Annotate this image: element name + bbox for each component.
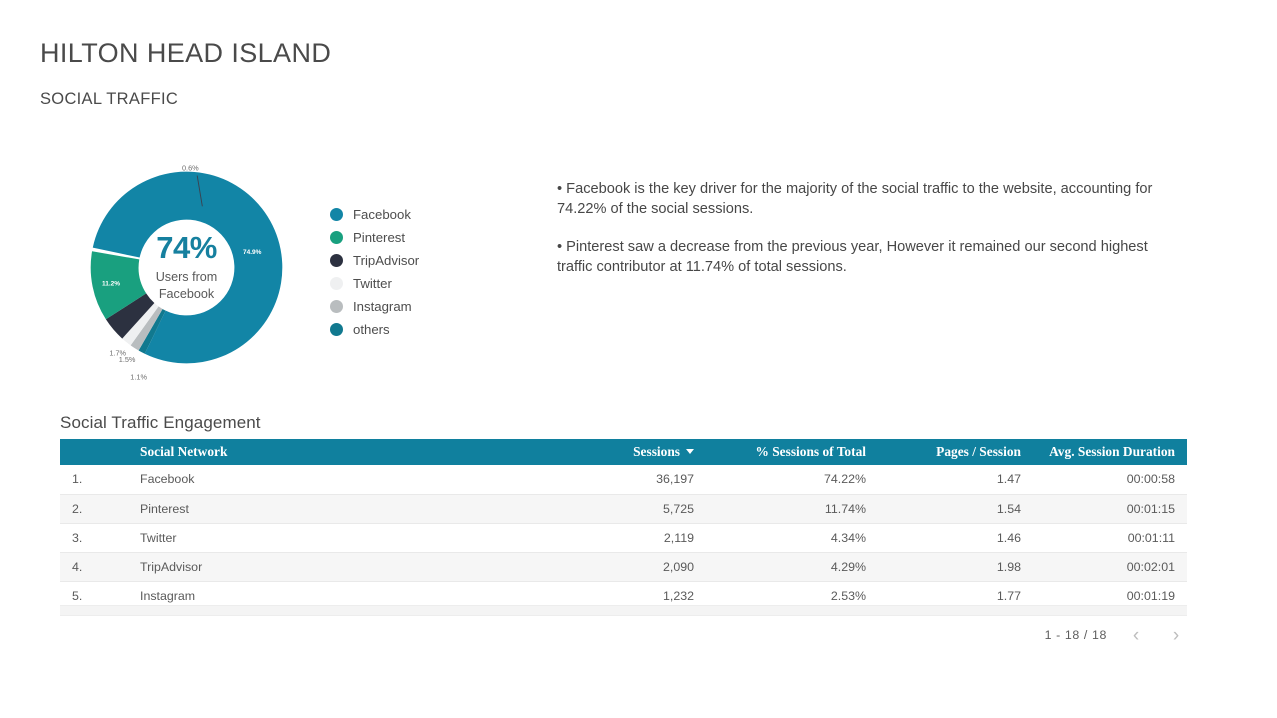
- legend-item-twitter[interactable]: Twitter: [330, 272, 490, 295]
- engagement-grid: Social Network Sessions % Sessions of To…: [60, 439, 1187, 611]
- page-range-label: 1 - 18 / 18: [1045, 628, 1107, 642]
- cell-sessions: 2,119: [528, 523, 706, 552]
- cell-pct-sessions: 11.74%: [706, 494, 878, 523]
- chevron-right-icon[interactable]: ›: [1165, 624, 1187, 646]
- table-row[interactable]: 3.Twitter2,1194.34%1.4600:01:11: [60, 523, 1187, 552]
- donut-label-callout: 0.6%: [182, 163, 199, 172]
- column-header-rank[interactable]: [60, 439, 128, 465]
- cell-rank: 3.: [60, 523, 128, 552]
- chart-legend: FacebookPinterestTripAdvisorTwitterInsta…: [330, 203, 490, 341]
- cell-pages-per-session: 1.98: [878, 552, 1033, 581]
- cell-pages-per-session: 1.54: [878, 494, 1033, 523]
- donut-label-others: 1.1%: [130, 373, 147, 380]
- legend-item-pinterest[interactable]: Pinterest: [330, 226, 490, 249]
- social-traffic-engagement-table: Social Network Sessions % Sessions of To…: [60, 439, 1187, 611]
- column-header-avg-session-duration[interactable]: Avg. Session Duration: [1033, 439, 1187, 465]
- sort-descending-icon[interactable]: [686, 449, 694, 454]
- legend-item-label: Pinterest: [353, 230, 405, 245]
- legend-item-label: Twitter: [353, 276, 392, 291]
- table-row[interactable]: 1.Facebook36,19774.22%1.4700:00:58: [60, 465, 1187, 494]
- cell-avg-session-duration: 00:01:15: [1033, 494, 1187, 523]
- cell-sessions: 2,090: [528, 552, 706, 581]
- donut-slice-group: [91, 172, 283, 364]
- chevron-left-icon[interactable]: ‹: [1125, 624, 1147, 646]
- donut-label-twitter: 1.7%: [109, 348, 126, 357]
- legend-dot-icon: [330, 208, 343, 221]
- table-header-row: Social Network Sessions % Sessions of To…: [60, 439, 1187, 465]
- table-head: Social Network Sessions % Sessions of To…: [60, 439, 1187, 465]
- cell-network: Twitter: [128, 523, 528, 552]
- donut-label-pinterest: 11.2%: [102, 280, 120, 287]
- cell-pages-per-session: 1.46: [878, 523, 1033, 552]
- cell-avg-session-duration: 00:00:58: [1033, 465, 1187, 494]
- legend-item-label: Facebook: [353, 207, 411, 222]
- insight-bullet-1: • Facebook is the key driver for the maj…: [557, 180, 1157, 219]
- donut-label-tripadvisor: 4%: [98, 336, 108, 343]
- table-body: 1.Facebook36,19774.22%1.4700:00:582.Pint…: [60, 465, 1187, 610]
- cell-network: Pinterest: [128, 494, 528, 523]
- legend-item-label: others: [353, 322, 390, 337]
- social-traffic-donut-chart: 74.9%1.1%1.5%1.7%4%11.2% 0.6%: [74, 155, 299, 380]
- column-header-sessions[interactable]: Sessions: [528, 439, 706, 465]
- cell-pct-sessions: 4.29%: [706, 552, 878, 581]
- legend-dot-icon: [330, 277, 343, 290]
- table-horizontal-scrollbar[interactable]: [60, 605, 1187, 616]
- cell-network: TripAdvisor: [128, 552, 528, 581]
- table-row[interactable]: 2.Pinterest5,72511.74%1.5400:01:15: [60, 494, 1187, 523]
- cell-avg-session-duration: 00:02:01: [1033, 552, 1187, 581]
- cell-avg-session-duration: 00:01:11: [1033, 523, 1187, 552]
- donut-label-facebook: 74.9%: [243, 249, 262, 256]
- cell-sessions: 5,725: [528, 494, 706, 523]
- cell-network: Facebook: [128, 465, 528, 494]
- legend-item-tripadvisor[interactable]: TripAdvisor: [330, 249, 490, 272]
- legend-item-others[interactable]: others: [330, 318, 490, 341]
- cell-pct-sessions: 4.34%: [706, 523, 878, 552]
- cell-rank: 4.: [60, 552, 128, 581]
- insights-panel: • Facebook is the key driver for the maj…: [557, 180, 1157, 296]
- legend-dot-icon: [330, 323, 343, 336]
- legend-item-instagram[interactable]: Instagram: [330, 295, 490, 318]
- cell-pct-sessions: 74.22%: [706, 465, 878, 494]
- table-caption: Social Traffic Engagement: [60, 413, 261, 433]
- table-row[interactable]: 4.TripAdvisor2,0904.29%1.9800:02:01: [60, 552, 1187, 581]
- legend-dot-icon: [330, 231, 343, 244]
- column-header-network[interactable]: Social Network: [128, 439, 528, 465]
- page-title: HILTON HEAD ISLAND: [40, 38, 331, 69]
- cell-pages-per-session: 1.47: [878, 465, 1033, 494]
- insight-bullet-2: • Pinterest saw a decrease from the prev…: [557, 238, 1157, 277]
- cell-rank: 1.: [60, 465, 128, 494]
- legend-dot-icon: [330, 300, 343, 313]
- column-header-pct-sessions[interactable]: % Sessions of Total: [706, 439, 878, 465]
- cell-sessions: 36,197: [528, 465, 706, 494]
- column-header-sessions-label: Sessions: [633, 444, 680, 459]
- table-pagination: 1 - 18 / 18 ‹ ›: [1045, 624, 1187, 646]
- legend-item-facebook[interactable]: Facebook: [330, 203, 490, 226]
- legend-item-label: TripAdvisor: [353, 253, 419, 268]
- legend-dot-icon: [330, 254, 343, 267]
- page-subtitle: SOCIAL TRAFFIC: [40, 90, 178, 109]
- column-header-pages-per-session[interactable]: Pages / Session: [878, 439, 1033, 465]
- cell-rank: 2.: [60, 494, 128, 523]
- donut-svg: 74.9%1.1%1.5%1.7%4%11.2% 0.6%: [74, 155, 299, 380]
- legend-item-label: Instagram: [353, 299, 412, 314]
